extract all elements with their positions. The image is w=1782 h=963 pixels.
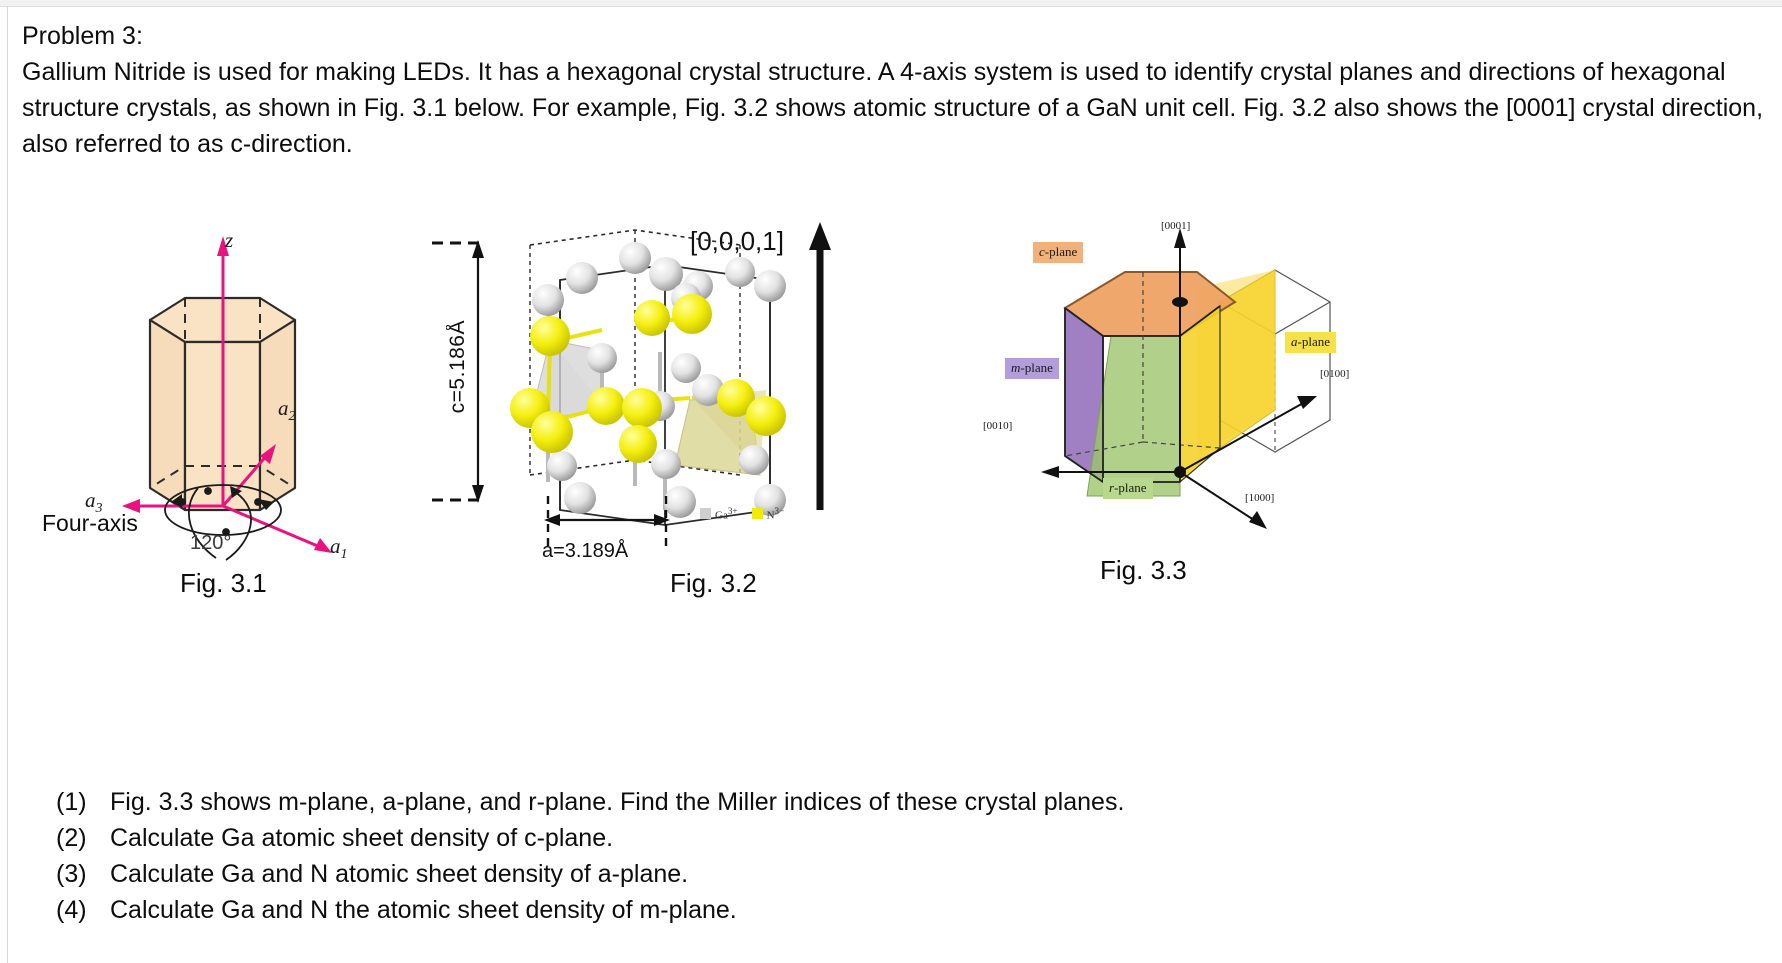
figure-3-2-caption: Fig. 3.2 — [670, 568, 757, 599]
legend-item-ga: Ga3+ — [700, 506, 738, 522]
n-swatch-icon — [752, 508, 763, 519]
questions-list: (1) Fig. 3.3 shows m-plane, a-plane, and… — [56, 784, 1556, 928]
direction-tag-0100: [0100] — [1320, 368, 1349, 380]
direction-0001-label: [0,0,0,1] — [690, 226, 784, 257]
direction-tag-0010: [0010] — [983, 420, 1012, 432]
figure-3-2-legend: Ga3+ N3− — [700, 506, 784, 522]
window-top-bar — [0, 0, 1782, 7]
question-text: Calculate Ga atomic sheet density of c-p… — [110, 820, 1556, 856]
question-text: Fig. 3.3 shows m-plane, a-plane, and r-p… — [110, 784, 1556, 820]
legend-item-n: N3− — [752, 506, 785, 522]
legend-n-label: N3− — [767, 506, 785, 522]
c-direction-arrow — [809, 222, 831, 510]
four-axis-label: Four-axis — [42, 510, 138, 537]
tag-m-plane: m-plane — [1005, 358, 1059, 379]
main-prism — [1065, 272, 1235, 496]
angle-120-label: 120° — [190, 532, 231, 555]
figures-row: z a2 a3 a1 Four-axis 120° Fig. 3.1 — [0, 210, 1782, 630]
axis-label-z: z — [225, 228, 233, 253]
problem-title: Problem 3: — [22, 18, 1767, 54]
figure-3-2: c=5.186Å a=3.189Å [0,0,0,1] Ga3+ N3− Fig… — [430, 210, 870, 630]
ga-swatch-icon — [700, 508, 711, 519]
axis-label-a2: a2 — [278, 396, 296, 425]
tag-a-plane: a-plane — [1285, 332, 1336, 353]
legend-ga-label: Ga3+ — [715, 506, 738, 522]
question-text: Calculate Ga and N atomic sheet density … — [110, 856, 1556, 892]
c-lattice-dimension-label: c=5.186Å — [446, 320, 470, 413]
direction-tag-0001: [0001] — [1161, 220, 1190, 232]
problem-body: Gallium Nitride is used for making LEDs.… — [22, 54, 1767, 162]
question-item: (3) Calculate Ga and N atomic sheet dens… — [56, 856, 1556, 892]
question-item: (4) Calculate Ga and N the atomic sheet … — [56, 892, 1556, 928]
problem-statement: Problem 3: Gallium Nitride is used for m… — [22, 18, 1767, 162]
direction-tag-1000: [1000] — [1245, 492, 1274, 504]
question-number: (4) — [56, 892, 110, 928]
figure-3-3-caption: Fig. 3.3 — [1100, 555, 1187, 586]
document-page: Problem 3: Gallium Nitride is used for m… — [0, 0, 1782, 963]
figure-3-3: c-plane m-plane a-plane r-plane [0001] [… — [975, 210, 1405, 630]
question-number: (2) — [56, 820, 110, 856]
figure-3-1: z a2 a3 a1 Four-axis 120° Fig. 3.1 — [30, 210, 420, 630]
tag-c-plane: c-plane — [1033, 242, 1083, 263]
question-number: (3) — [56, 856, 110, 892]
figure-3-1-caption: Fig. 3.1 — [180, 568, 267, 599]
question-item: (1) Fig. 3.3 shows m-plane, a-plane, and… — [56, 784, 1556, 820]
question-text: Calculate Ga and N the atomic sheet dens… — [110, 892, 1556, 928]
gan-unit-cell-diagram — [430, 210, 870, 560]
question-item: (2) Calculate Ga atomic sheet density of… — [56, 820, 1556, 856]
axis-label-a1: a1 — [330, 534, 348, 563]
a-lattice-dimension-label: a=3.189Å — [542, 540, 628, 563]
question-number: (1) — [56, 784, 110, 820]
tag-r-plane: r-plane — [1103, 478, 1153, 499]
